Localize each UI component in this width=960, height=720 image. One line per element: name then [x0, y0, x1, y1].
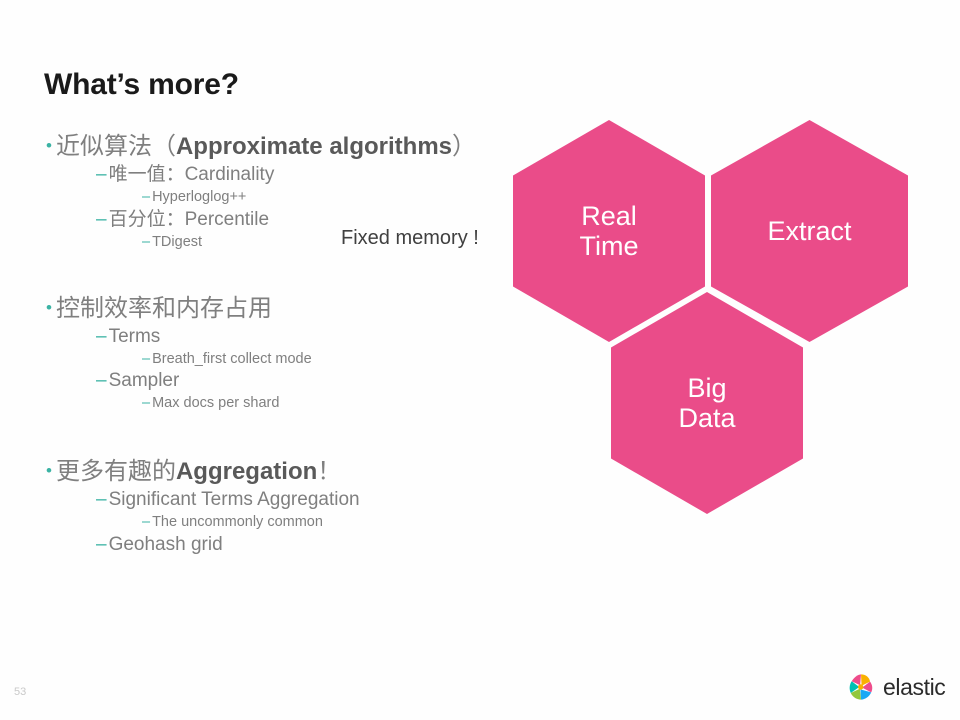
- bullet-level1: • 更多有趣的Aggregation！: [46, 458, 516, 486]
- bullet-level2-label: Significant Terms Aggregation: [109, 488, 360, 512]
- bullet-level1: • 控制效率和内存占用: [46, 295, 516, 323]
- bullet-level1-label: 近似算法（Approximate algorithms）: [56, 133, 476, 161]
- slide-number: 53: [14, 686, 26, 698]
- bullet-level3: – Max docs per shard: [142, 394, 516, 413]
- bullet-level2-label: Sampler: [109, 369, 180, 393]
- bullet-level1: • 近似算法（Approximate algorithms）: [46, 133, 516, 161]
- dash-icon: –: [96, 488, 107, 512]
- hexagon-label: Real Time: [580, 201, 639, 261]
- bullet-text-prefix: 控制效率和内存占用: [56, 295, 272, 322]
- dash-icon: –: [142, 233, 150, 252]
- bullet-level1-label: 控制效率和内存占用: [56, 295, 272, 323]
- hexagon-label: Extract: [767, 216, 851, 246]
- outline-group: • 控制效率和内存占用 – Terms – Breath_first colle…: [46, 295, 516, 414]
- hexagon-label: Big Data: [678, 373, 735, 433]
- bullet-dot-icon: •: [46, 133, 52, 159]
- bullet-level3-label: Max docs per shard: [152, 394, 279, 413]
- elastic-logo-icon: [846, 672, 876, 702]
- bullet-level3-label: Hyperloglog++: [152, 188, 246, 207]
- bullet-level3: – Hyperloglog++: [142, 188, 516, 207]
- group-spacer: [46, 414, 516, 458]
- hexagon-label-line1: Big: [678, 373, 735, 403]
- bullet-text-prefix: 近似算法（: [56, 133, 176, 160]
- bullet-text-bold: Aggregation: [176, 458, 317, 485]
- bullet-level1-label: 更多有趣的Aggregation！: [56, 458, 341, 486]
- bullet-dot-icon: •: [46, 458, 52, 484]
- dash-icon: –: [96, 533, 107, 557]
- bullet-text-suffix: ）: [452, 133, 476, 160]
- bullet-level2: – Geohash grid: [96, 533, 516, 557]
- bullet-level3-label: TDigest: [152, 233, 202, 252]
- hexagon-label-line2: Data: [678, 403, 735, 433]
- bullet-text-suffix: ！: [317, 458, 341, 485]
- bullet-level2-label: Geohash grid: [109, 533, 223, 557]
- bullet-level2: – Significant Terms Aggregation: [96, 488, 516, 512]
- bullet-level3-label: Breath_first collect mode: [152, 350, 312, 369]
- bullet-dot-icon: •: [46, 295, 52, 321]
- hexagon-label-line2: Time: [580, 231, 639, 261]
- hexagon-label-line1: Real: [580, 201, 639, 231]
- brand-logo: elastic: [846, 672, 945, 702]
- dash-icon: –: [96, 208, 107, 232]
- dash-icon: –: [142, 513, 150, 532]
- dash-icon: –: [96, 369, 107, 393]
- dash-icon: –: [96, 325, 107, 349]
- bullet-level2-label: 唯一值：Cardinality: [109, 163, 275, 187]
- hexagon-big-data[interactable]: Big Data: [611, 292, 803, 514]
- bullet-level3: – The uncommonly common: [142, 513, 516, 532]
- outline-group: • 更多有趣的Aggregation！ – Significant Terms …: [46, 458, 516, 557]
- bullet-level3: – Breath_first collect mode: [142, 350, 516, 369]
- bullet-level2: – Terms: [96, 325, 516, 349]
- bullet-level3-label: The uncommonly common: [152, 513, 323, 532]
- bullet-level2: – 唯一值：Cardinality: [96, 163, 516, 187]
- fixed-memory-callout: Fixed memory !: [341, 227, 479, 250]
- bullet-level2-label: Terms: [109, 325, 161, 349]
- page-title: What’s more?: [44, 68, 239, 102]
- bullet-text-prefix: 更多有趣的: [56, 458, 176, 485]
- bullet-text-bold: Approximate algorithms: [176, 133, 452, 160]
- dash-icon: –: [96, 163, 107, 187]
- bullet-level2: – Sampler: [96, 369, 516, 393]
- hexagon-label-line1: Extract: [767, 216, 851, 246]
- hexagon-real-time[interactable]: Real Time: [513, 120, 705, 342]
- brand-wordmark: elastic: [883, 676, 945, 699]
- hexagon-extract[interactable]: Extract: [711, 120, 908, 342]
- dash-icon: –: [142, 394, 150, 413]
- bullet-level2-label: 百分位：Percentile: [109, 208, 270, 232]
- outline-body: • 近似算法（Approximate algorithms） – 唯一值：Car…: [46, 133, 516, 558]
- group-spacer: [46, 253, 516, 295]
- dash-icon: –: [142, 188, 150, 207]
- dash-icon: –: [142, 350, 150, 369]
